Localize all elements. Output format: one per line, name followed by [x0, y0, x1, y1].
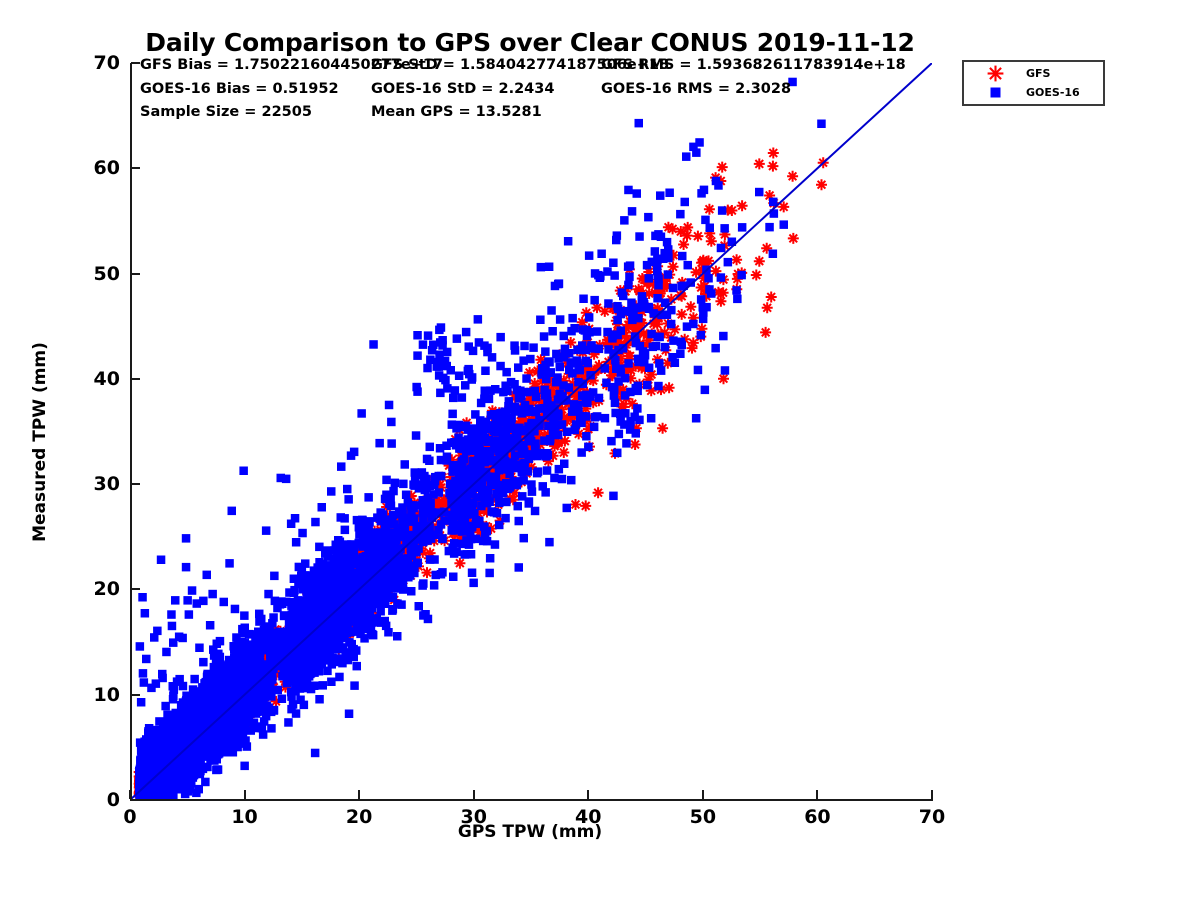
legend-label-goes16: GOES-16: [1026, 86, 1080, 99]
y-tick-label: 70: [74, 52, 120, 74]
y-tick-label: 20: [74, 578, 120, 600]
y-tick: [131, 588, 140, 590]
y-tick-label: 50: [74, 263, 120, 285]
y-axis-line: [130, 63, 132, 801]
chart-title: Daily Comparison to GPS over Clear CONUS…: [0, 28, 1060, 57]
y-tick: [131, 799, 140, 801]
y-tick-label: 10: [74, 684, 120, 706]
x-tick: [931, 790, 933, 799]
y-tick: [131, 62, 140, 64]
chart-canvas: Daily Comparison to GPS over Clear CONUS…: [0, 0, 1200, 900]
y-tick-label: 30: [74, 473, 120, 495]
x-tick: [358, 790, 360, 799]
x-tick: [816, 790, 818, 799]
y-tick: [131, 378, 140, 380]
x-axis-label: GPS TPW (mm): [0, 822, 1060, 842]
one-to-one-reference-line: [130, 63, 932, 800]
y-tick: [131, 483, 140, 485]
x-axis-line: [130, 799, 933, 801]
x-tick: [473, 790, 475, 799]
asterisk-icon: [964, 65, 1026, 82]
y-tick: [131, 694, 140, 696]
legend-item-goes16: GOES-16: [964, 83, 1107, 102]
legend-label-gfs: GFS: [1026, 67, 1050, 80]
y-tick-label: 60: [74, 157, 120, 179]
x-tick: [702, 790, 704, 799]
x-tick: [244, 790, 246, 799]
y-tick-label: 0: [74, 789, 120, 811]
x-tick: [129, 790, 131, 799]
y-tick: [131, 273, 140, 275]
y-axis-label: Measured TPW (mm): [30, 322, 50, 562]
legend-item-gfs: GFS: [964, 64, 1107, 83]
series-goes16-points: [135, 78, 826, 800]
y-tick: [131, 167, 140, 169]
y-tick-label: 40: [74, 368, 120, 390]
legend: GFS GOES-16: [962, 60, 1105, 106]
x-tick: [587, 790, 589, 799]
square-icon: [964, 86, 1026, 99]
scatter-plot-area: [130, 63, 932, 800]
